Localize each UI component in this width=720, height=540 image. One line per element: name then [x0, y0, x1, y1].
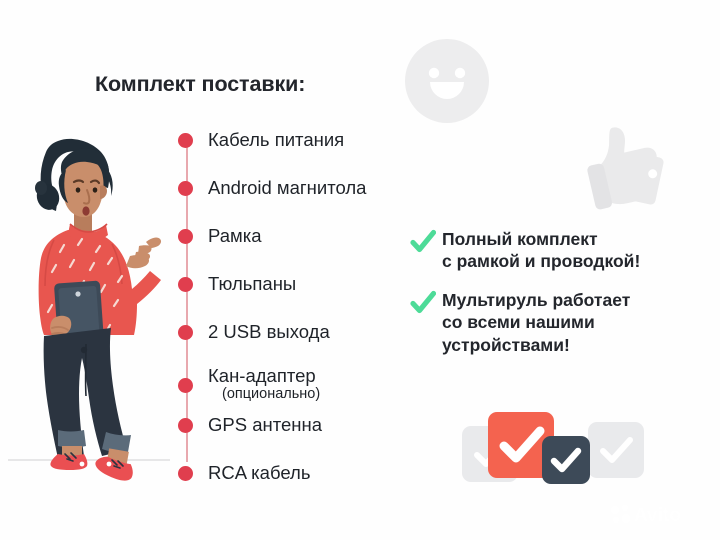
bullet-icon	[178, 133, 193, 148]
avito-watermark: Avito	[609, 500, 709, 528]
list-item-label: GPS антенна	[208, 415, 322, 434]
list-item-label: Рамка	[208, 226, 262, 245]
check-icon	[410, 290, 436, 316]
bullet-icon	[178, 229, 193, 244]
check-icon	[410, 229, 436, 255]
list-item: GPS антенна	[178, 415, 418, 445]
feature-line-3: устройствами!	[442, 335, 570, 355]
list-item: 2 USB выхода	[178, 322, 418, 352]
checkbox-card-dark	[542, 436, 590, 484]
list-item-label: Android магнитола	[208, 178, 366, 197]
smiley-face-icon	[403, 37, 491, 125]
kit-contents-list: Кабель питания Android магнитола Рамка Т…	[178, 130, 418, 493]
feature-line-1: Полный комплект	[442, 229, 598, 249]
list-item-main-text: Кан-адаптер	[208, 365, 316, 386]
list-item: Кан-адаптер (опционально)	[178, 366, 418, 403]
list-item-label: Кан-адаптер (опционально)	[208, 366, 320, 403]
product-infographic: Комплект поставки: Кабель питания Androi…	[0, 0, 720, 540]
feature-line-1: Мультируль работает	[442, 290, 630, 310]
list-item-label: RCA кабель	[208, 463, 310, 482]
page-title: Комплект поставки:	[95, 72, 305, 97]
feature-item: Мультируль работает со всеми нашими устр…	[410, 289, 700, 356]
bullet-icon	[178, 378, 193, 393]
bullet-icon	[178, 466, 193, 481]
check-icon	[588, 422, 644, 478]
list-item-label: Кабель питания	[208, 130, 344, 149]
features-list: Полный комплект с рамкой и проводкой! Му…	[410, 228, 700, 372]
list-item: RCA кабель	[178, 463, 418, 493]
feature-item: Полный комплект с рамкой и проводкой!	[410, 228, 700, 273]
list-item-label: Тюльпаны	[208, 274, 296, 293]
feature-line-2: с рамкой и проводкой!	[442, 251, 640, 271]
bullet-icon	[178, 277, 193, 292]
checkbox-card-gray-right	[588, 422, 644, 478]
bullet-icon	[178, 181, 193, 196]
list-item-label: 2 USB выхода	[208, 322, 330, 341]
thumbs-up-icon	[573, 113, 685, 225]
list-item: Тюльпаны	[178, 274, 418, 304]
illustration-woman-pointing	[8, 112, 170, 504]
feature-text: Полный комплект с рамкой и проводкой!	[442, 228, 640, 273]
check-icon	[542, 436, 590, 484]
list-item-sub-text: (опционально)	[222, 387, 320, 402]
bullet-icon	[178, 325, 193, 340]
feature-text: Мультируль работает со всеми нашими устр…	[442, 289, 630, 356]
list-item: Рамка	[178, 226, 418, 256]
list-item: Кабель питания	[178, 130, 418, 160]
feature-line-2: со всеми нашими	[442, 312, 595, 332]
list-item: Android магнитола	[178, 178, 418, 208]
checkbox-cards-group	[462, 408, 642, 496]
bullet-icon	[178, 418, 193, 433]
avito-label: Avito	[634, 505, 681, 526]
